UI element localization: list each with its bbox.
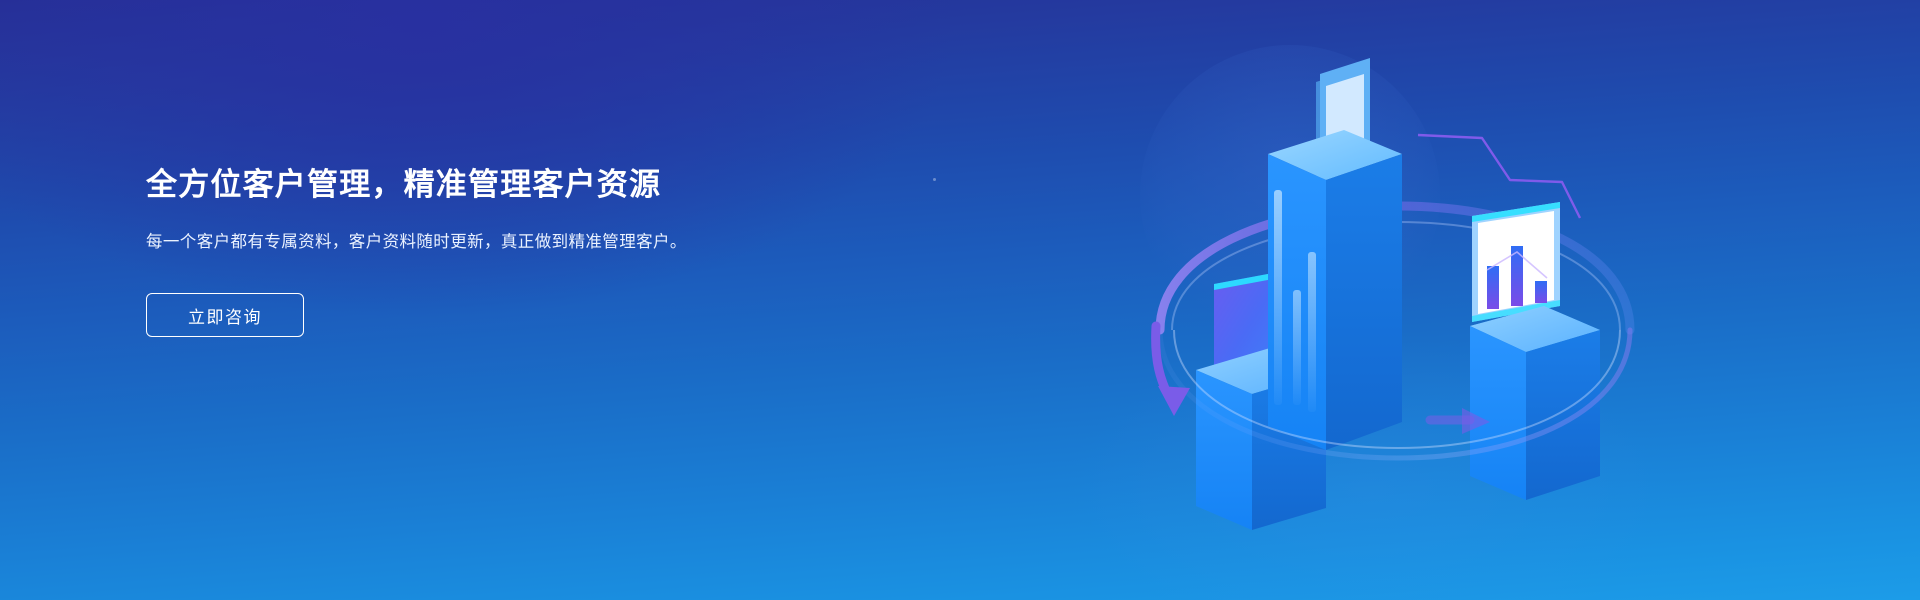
consult-now-button[interactable]: 立即咨询 bbox=[146, 293, 304, 337]
page-title: 全方位客户管理，精准管理客户资源 bbox=[146, 166, 786, 205]
hero-banner: 全方位客户管理，精准管理客户资源 每一个客户都有专属资料，客户资料随时更新，真正… bbox=[0, 0, 1920, 600]
hero-copy-block: 全方位客户管理，精准管理客户资源 每一个客户都有专属资料，客户资料随时更新，真正… bbox=[146, 166, 786, 337]
isometric-data-pillars-illustration bbox=[1130, 30, 1690, 590]
hero-subtitle: 每一个客户都有专属资料，客户资料随时更新，真正做到精准管理客户。 bbox=[146, 229, 731, 256]
center-pillar bbox=[1268, 58, 1402, 450]
decorative-dot bbox=[933, 178, 936, 181]
